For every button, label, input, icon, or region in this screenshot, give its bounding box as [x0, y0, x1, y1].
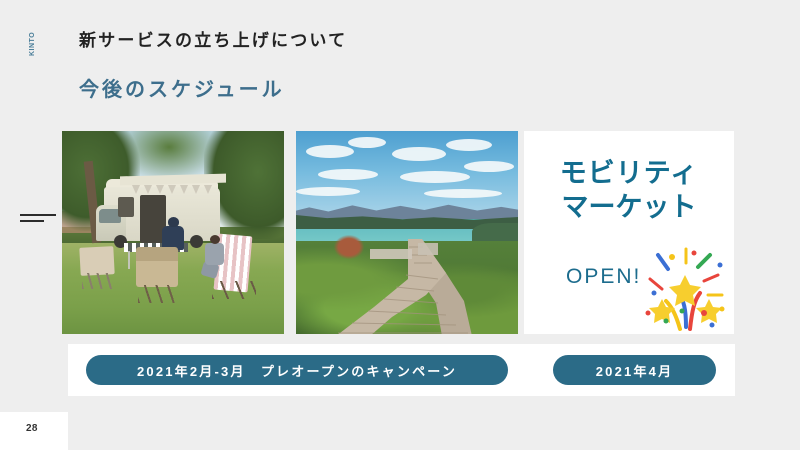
boardwalk-railing-right — [418, 243, 438, 255]
slide: KINTO 28 新サービスの立ち上げについて 今後のスケジュール — [0, 0, 800, 450]
page-subtitle: 今後のスケジュール — [79, 73, 285, 102]
schedule-pill-launch[interactable]: 2021年4月 — [553, 355, 716, 385]
brand-logo-line1: モビリティ — [524, 157, 734, 191]
cloud — [348, 137, 386, 148]
confetti-icon — [642, 247, 728, 331]
cloud — [306, 145, 354, 158]
camper-wheel-rear — [190, 235, 203, 248]
page-number: 28 — [26, 423, 38, 434]
rail-divider-mark — [20, 214, 56, 222]
camp-chair-center-legs — [138, 285, 176, 303]
cloud — [400, 171, 470, 183]
cloud — [424, 189, 502, 198]
camp-chair-center — [136, 257, 178, 287]
camp-chair-center-back — [136, 247, 178, 261]
camping-photo — [62, 131, 284, 334]
seated-child-head — [210, 235, 220, 244]
schedule-banner: 2021年2月-3月 プレオープンのキャンペーン 2021年4月 — [68, 344, 735, 396]
camp-chair-left-legs — [82, 273, 112, 289]
cloud — [318, 169, 378, 180]
striped-deck-chair-legs — [212, 281, 256, 299]
open-label: OPEN! — [566, 265, 641, 289]
bunting-flags — [132, 185, 220, 195]
boardwalk-railing-left — [370, 249, 412, 259]
camper-window — [118, 197, 134, 217]
brand-logo-line2: マーケット — [524, 191, 734, 225]
brand-logo-text: モビリティ マーケット — [524, 157, 734, 225]
cloud — [392, 147, 446, 161]
cloud — [446, 139, 492, 151]
boardwalk-photo — [296, 131, 518, 334]
brand-rail-label: KINTO — [26, 22, 40, 56]
rail-mark-line-long — [20, 214, 56, 216]
page-title: 新サービスの立ち上げについて — [79, 26, 347, 51]
cloud — [296, 187, 360, 196]
seated-child-body — [205, 243, 224, 265]
rail-mark-line-short — [20, 220, 44, 222]
schedule-pill-precampaign[interactable]: 2021年2月-3月 プレオープンのキャンペーン — [86, 355, 508, 385]
camp-chair-left — [79, 246, 114, 276]
seated-adult-head — [168, 217, 179, 227]
brand-logo-card: モビリティ マーケット OPEN! — [524, 131, 734, 334]
cloud — [464, 161, 514, 172]
